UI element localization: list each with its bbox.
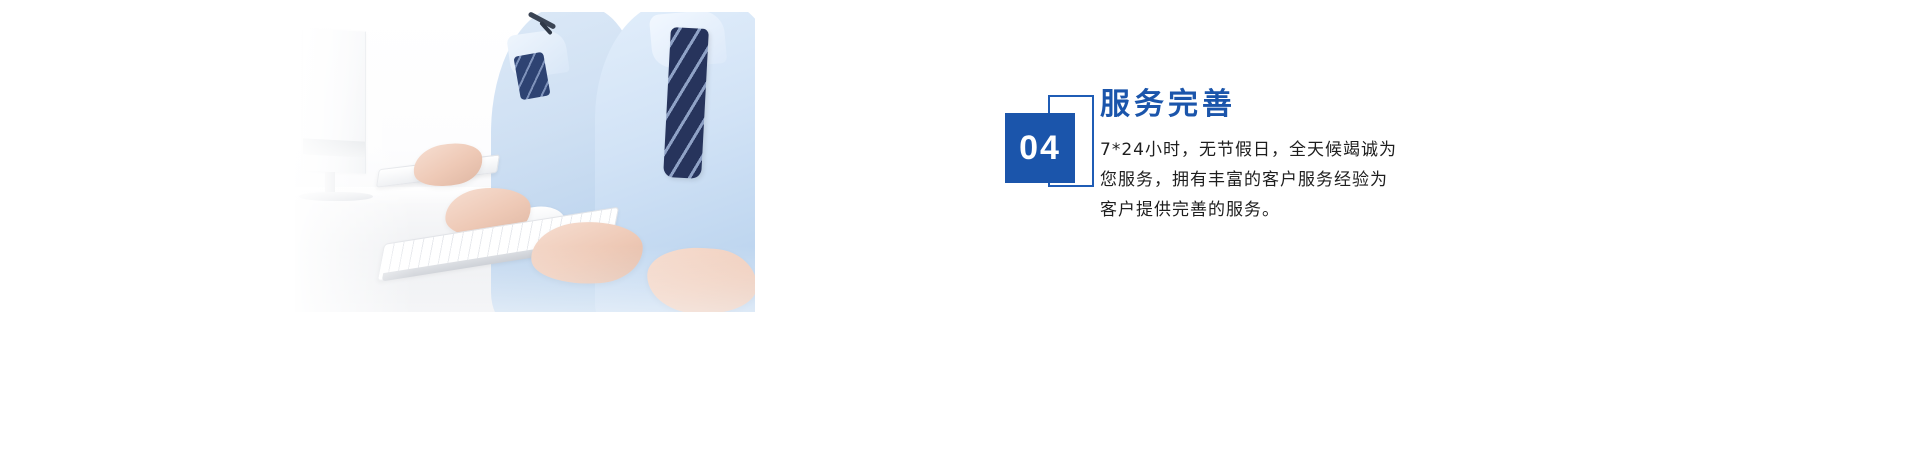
feature-headline: 服务完善 — [1100, 88, 1500, 121]
description-line-3: 客户提供完善的服务。 — [1100, 195, 1500, 225]
promo-banner: 04 服务完善 7*24小时，无节假日，全天候竭诚为 您服务，拥有丰富的客户服务… — [0, 0, 1920, 452]
feature-photo — [295, 12, 755, 312]
feature-description: 7*24小时，无节假日，全天候竭诚为 您服务，拥有丰富的客户服务经验为 客户提供… — [1100, 135, 1500, 225]
description-line-1: 7*24小时，无节假日，全天候竭诚为 — [1100, 135, 1500, 165]
hand-background-typing — [409, 137, 486, 193]
necktie-foreground — [663, 27, 709, 179]
monitor-bezel — [303, 138, 365, 157]
feature-text-column: 服务完善 7*24小时，无节假日，全天候竭诚为 您服务，拥有丰富的客户服务经验为… — [1100, 88, 1500, 225]
step-badge-number: 04 — [1005, 113, 1075, 183]
photo-background — [295, 12, 755, 312]
monitor-stand-base — [299, 192, 373, 201]
description-line-2: 您服务，拥有丰富的客户服务经验为 — [1100, 165, 1500, 195]
feature-content: 04 服务完善 7*24小时，无节假日，全天候竭诚为 您服务，拥有丰富的客户服务… — [1005, 88, 1705, 278]
step-badge: 04 — [1005, 95, 1097, 193]
